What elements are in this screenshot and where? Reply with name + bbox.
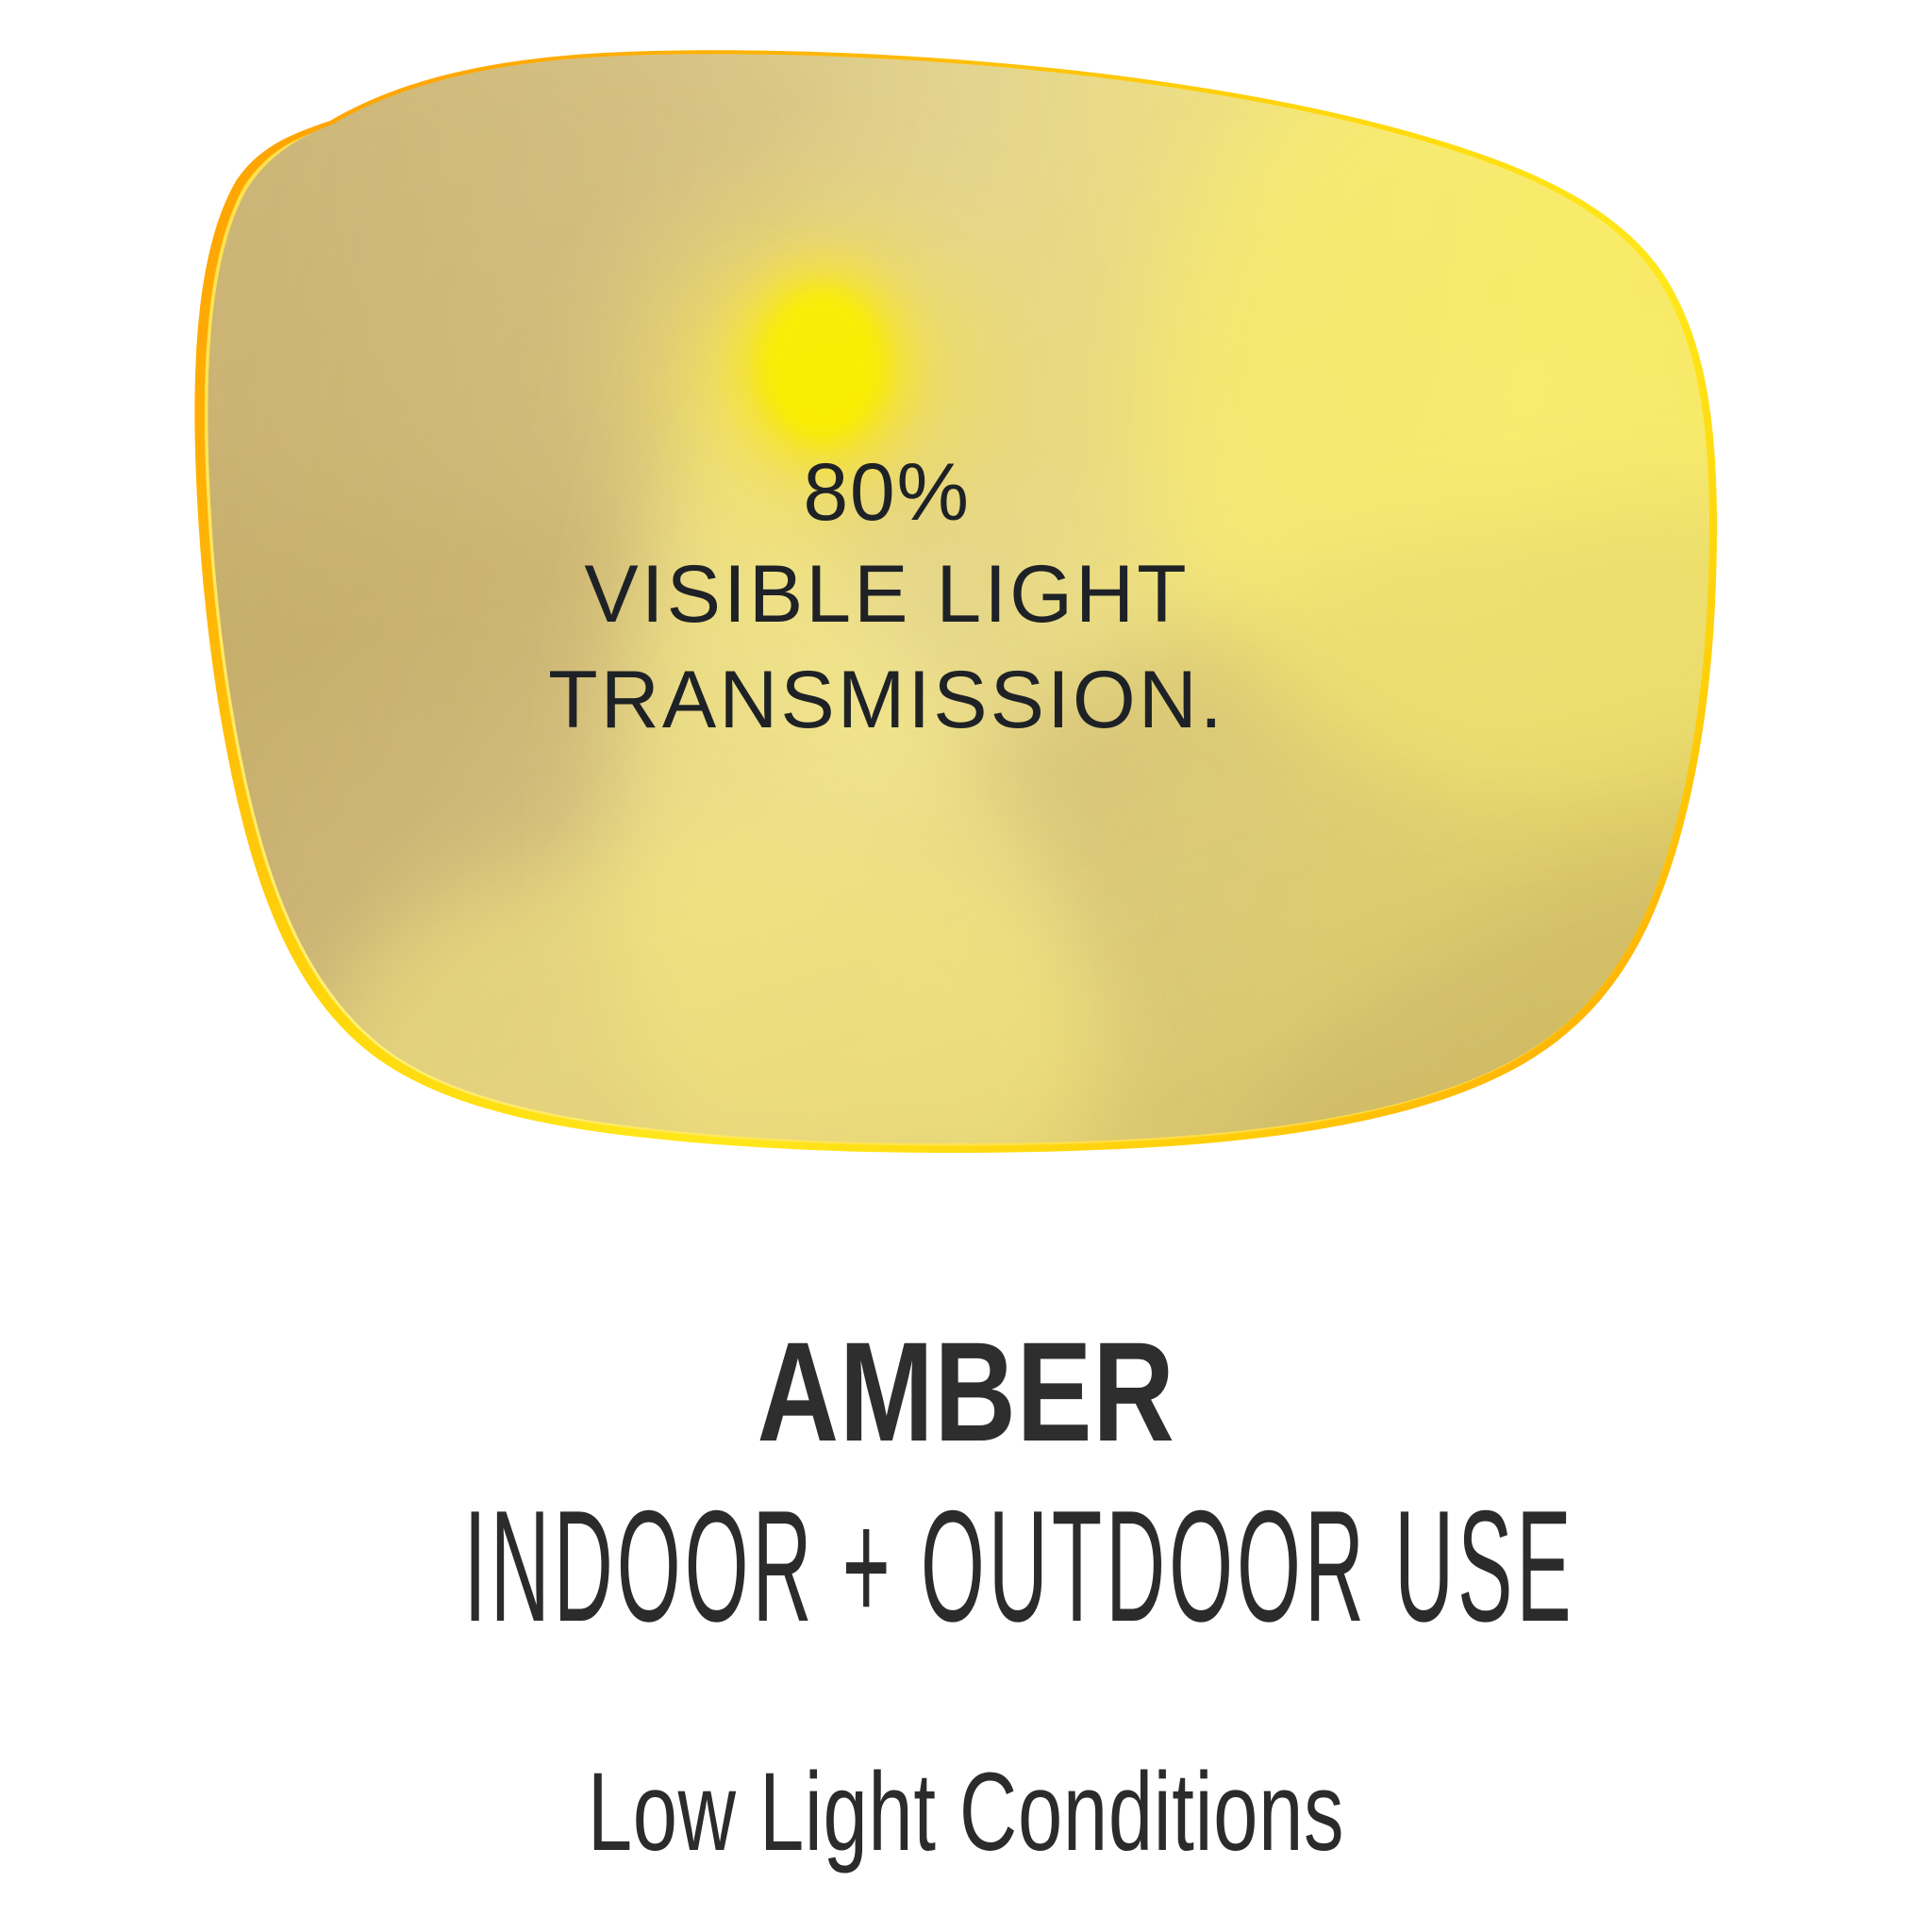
lens-vertical-tone bbox=[0, 0, 1932, 1245]
lens-conditions-label: Low Light Conditions bbox=[271, 1757, 1662, 1868]
lens-illustration: 80% VISIBLE LIGHT TRANSMISSION. bbox=[0, 0, 1932, 1245]
lens-graphic bbox=[0, 0, 1932, 1245]
lens-usage-subtitle: INDOOR + OUTDOOR USE bbox=[464, 1487, 1469, 1645]
lens-name-title: AMBER bbox=[193, 1321, 1739, 1462]
lens-caption-block: AMBER INDOOR + OUTDOOR USE Low Light Con… bbox=[0, 1321, 1932, 1868]
lens-interior-shading bbox=[0, 0, 1932, 1245]
